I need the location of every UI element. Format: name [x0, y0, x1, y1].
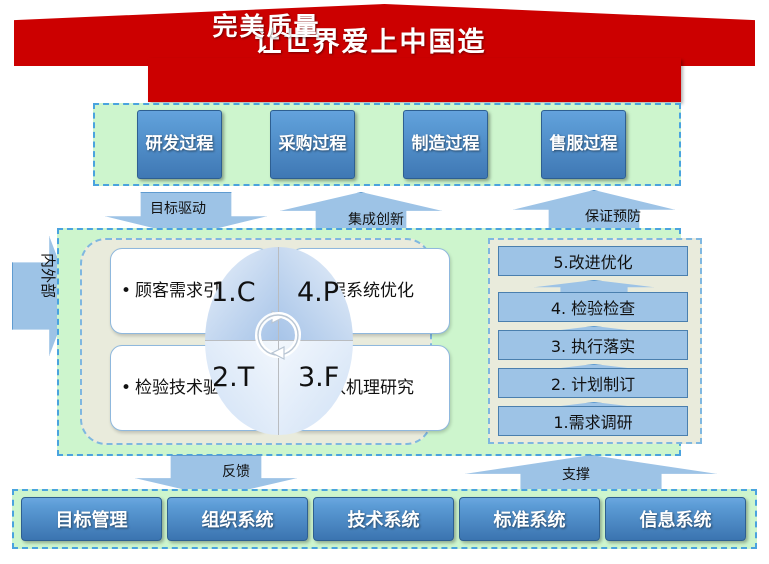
bullet-icon: • — [111, 377, 135, 400]
assurance-prevention-label: 保证预防 — [585, 206, 641, 226]
process-box-aftersales[interactable]: 售服过程 — [541, 110, 626, 179]
internal-external-label: 内外部 — [38, 253, 59, 298]
quality-band — [148, 58, 681, 102]
wheel-label-p: 4.P — [297, 277, 339, 308]
foundation-box-tech[interactable]: 技术系统 — [313, 497, 454, 541]
foundation-box-org[interactable]: 组织系统 — [167, 497, 308, 541]
foundation-box-info[interactable]: 信息系统 — [605, 497, 746, 541]
goal-drive-label: 目标驱动 — [150, 198, 206, 218]
wheel-label-t: 2.T — [212, 362, 254, 393]
process-box-rd[interactable]: 研发过程 — [137, 110, 222, 179]
wheel-label-f: 3.F — [298, 362, 339, 393]
foundation-box-goal[interactable]: 目标管理 — [21, 497, 162, 541]
cycle-arrow-icon — [248, 305, 308, 365]
bullet-icon: • — [111, 280, 135, 303]
diagram-canvas: 让世界爱上中国造 完美质量 研发过程 采购过程 制造过程 售服过程 目标驱动 集… — [0, 0, 769, 564]
process-box-purchase[interactable]: 采购过程 — [270, 110, 355, 179]
step-box-3[interactable]: 3. 执行落实 — [498, 330, 688, 360]
support-label: 支撑 — [562, 464, 590, 484]
step-box-5[interactable]: 5.改进优化 — [498, 246, 688, 276]
step-box-2[interactable]: 2. 计划制订 — [498, 368, 688, 398]
integrated-innovation-label: 集成创新 — [348, 209, 404, 229]
process-box-manufacture[interactable]: 制造过程 — [403, 110, 488, 179]
quality-band-title: 完美质量 — [0, 7, 533, 43]
step-box-1[interactable]: 1.需求调研 — [498, 406, 688, 436]
feedback-label: 反馈 — [222, 461, 250, 481]
foundation-box-standard[interactable]: 标准系统 — [459, 497, 600, 541]
wheel-label-c: 1.C — [211, 277, 256, 308]
step-box-4[interactable]: 4. 检验检查 — [498, 292, 688, 322]
